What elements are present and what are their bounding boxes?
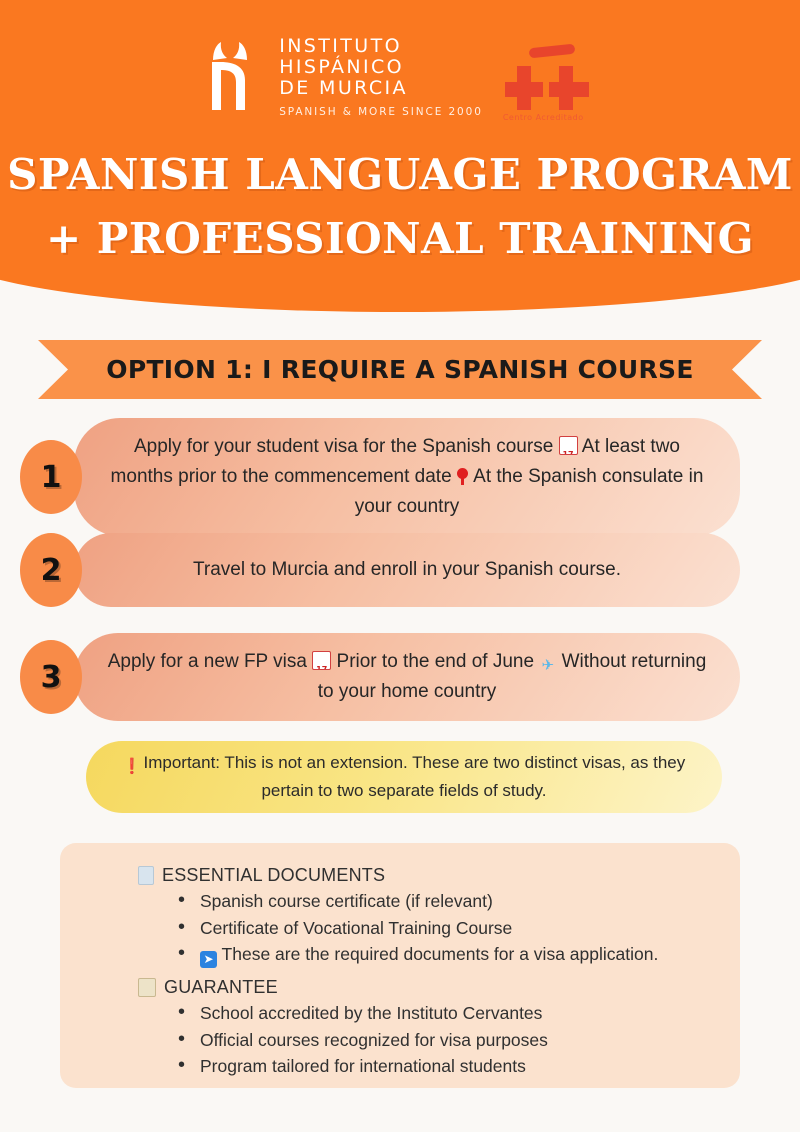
essential-documents-list: Spanish course certificate (if relevant)…	[138, 888, 740, 968]
essential-item-2: Certificate of Vocational Training Cours…	[200, 918, 512, 938]
step-number-badge-3: 3	[20, 640, 82, 714]
guarantee-heading-label: GUARANTEE	[164, 977, 278, 998]
logo-row: INSTITUTO HISPÁNICO DE MURCIA SPANISH & …	[0, 34, 800, 124]
essential-item-3: These are the required documents for a v…	[222, 944, 659, 964]
guarantee-item-2: Official courses recognized for visa pur…	[200, 1030, 548, 1050]
step-text-1: Apply for your student visa for the Span…	[74, 418, 740, 536]
warning-icon: ❗	[123, 759, 139, 774]
calendar-icon: 17	[312, 651, 331, 670]
step-text-3: Apply for a new FP visa 17 Prior to the …	[74, 633, 740, 721]
page-title: SPANISH LANGUAGE PROGRAM + PROFESSIONAL …	[0, 143, 800, 271]
step-1-text-a: Apply for your student visa for the Span…	[134, 436, 553, 457]
fp-logo-caption: Centro Acreditado	[503, 113, 595, 122]
essential-documents-heading: ESSENTIAL DOCUMENTS	[138, 865, 740, 886]
guarantee-item-3: Program tailored for international stude…	[200, 1056, 526, 1076]
list-item: Official courses recognized for visa pur…	[178, 1027, 740, 1054]
page-title-line-1: SPANISH LANGUAGE PROGRAM	[7, 150, 793, 199]
guarantee-list: School accredited by the Instituto Cerva…	[138, 1000, 740, 1080]
list-item: ➤ These are the required documents for a…	[178, 941, 740, 968]
step-3-text-b: Prior to the end of June	[337, 651, 535, 672]
blue-arrow-icon: ➤	[200, 951, 217, 968]
logo-line-2: HISPÁNICO	[279, 57, 404, 78]
step-3-text-a: Apply for a new FP visa	[108, 651, 307, 672]
institution-icon	[138, 978, 156, 997]
logo-line-3: DE MURCIA	[279, 78, 408, 99]
logo-wordmark: INSTITUTO HISPÁNICO DE MURCIA SPANISH & …	[279, 34, 483, 118]
option-banner: OPTION 1: I REQUIRE A SPANISH COURSE	[38, 340, 762, 399]
list-item: School accredited by the Instituto Cerva…	[178, 1000, 740, 1027]
airplane-icon: ✈	[539, 658, 556, 674]
guarantee-item-1: School accredited by the Instituto Cerva…	[200, 1003, 542, 1023]
calendar-icon: 17	[559, 436, 578, 455]
list-item: Program tailored for international stude…	[178, 1053, 740, 1080]
option-banner-label: OPTION 1: I REQUIRE A SPANISH COURSE	[106, 355, 693, 384]
step-number-badge-2: 2	[20, 533, 82, 607]
essential-documents-section: ESSENTIAL DOCUMENTS Spanish course certi…	[60, 865, 740, 968]
guarantee-heading: GUARANTEE	[138, 977, 740, 998]
logo-line-1: INSTITUTO	[279, 36, 402, 57]
list-item: Spanish course certificate (if relevant)	[178, 888, 740, 915]
page-title-line-2: + PROFESSIONAL TRAINING	[0, 207, 800, 271]
guarantee-section: GUARANTEE School accredited by the Insti…	[60, 977, 740, 1080]
instituto-n-monogram-icon	[203, 38, 261, 118]
step-item-1: 1 Apply for your student visa for the Sp…	[20, 418, 740, 536]
logo-tagline: SPANISH & MORE SINCE 2000	[279, 106, 483, 118]
step-text-2: Travel to Murcia and enroll in your Span…	[74, 533, 740, 607]
header-banner: INSTITUTO HISPÁNICO DE MURCIA SPANISH & …	[0, 0, 800, 315]
document-icon	[138, 866, 154, 885]
location-pin-icon	[457, 468, 469, 485]
step-number-badge-1: 1	[20, 440, 82, 514]
step-2-text-a: Travel to Murcia and enroll in your Span…	[193, 559, 621, 580]
list-item: Certificate of Vocational Training Cours…	[178, 915, 740, 942]
important-note: ❗ Important: This is not an extension. T…	[86, 741, 722, 813]
essential-documents-heading-label: ESSENTIAL DOCUMENTS	[162, 865, 385, 886]
step-item-3: 3 Apply for a new FP visa 17 Prior to th…	[20, 633, 740, 721]
essential-item-1: Spanish course certificate (if relevant)	[200, 891, 493, 911]
fp-accreditation-logo-icon: Centro Acreditado	[501, 40, 597, 124]
documents-box: ESSENTIAL DOCUMENTS Spanish course certi…	[60, 843, 740, 1088]
important-note-text: Important: This is not an extension. The…	[143, 753, 685, 800]
step-item-2: 2 Travel to Murcia and enroll in your Sp…	[20, 533, 740, 607]
